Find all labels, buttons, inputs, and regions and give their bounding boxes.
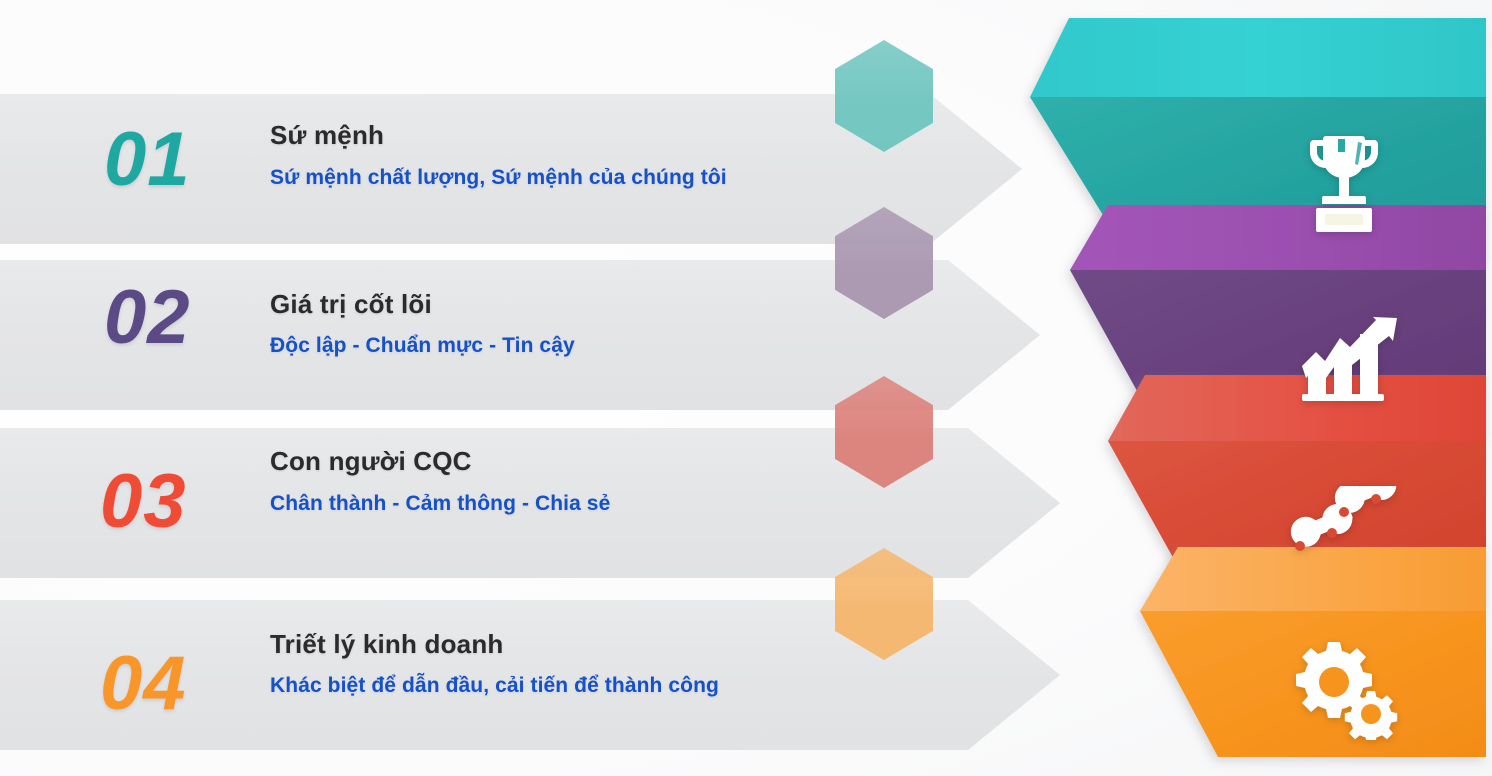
funnel-band-purple [0, 0, 1492, 776]
funnel-band-red [0, 0, 1492, 776]
chain-link-icon [1288, 486, 1400, 576]
growth-chart-icon [1298, 308, 1398, 408]
funnel-band-teal [0, 0, 1492, 776]
funnel-band-orange [0, 0, 1492, 776]
trophy-icon [1298, 128, 1390, 240]
infographic-canvas: 01 Sứ mệnh Sứ mệnh chất lượng, Sứ mệnh c… [0, 0, 1492, 776]
gears-icon [1288, 640, 1398, 740]
funnel-layer [0, 0, 1492, 776]
